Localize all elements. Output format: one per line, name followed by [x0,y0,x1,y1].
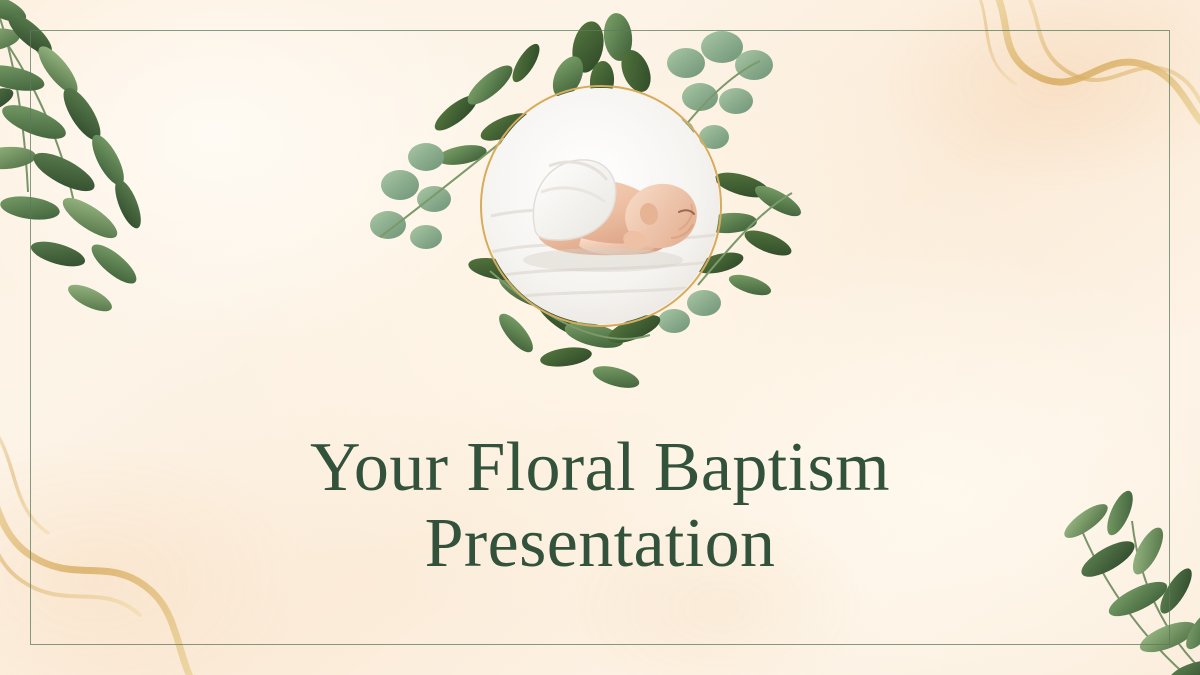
slide-title: Your Floral Baptism Presentation [0,430,1200,581]
baby-photo-circle [480,85,722,327]
presentation-slide: Your Floral Baptism Presentation [0,0,1200,675]
title-line-2: Presentation [0,506,1200,582]
gold-photo-ring [480,85,722,327]
title-line-1: Your Floral Baptism [0,430,1200,506]
